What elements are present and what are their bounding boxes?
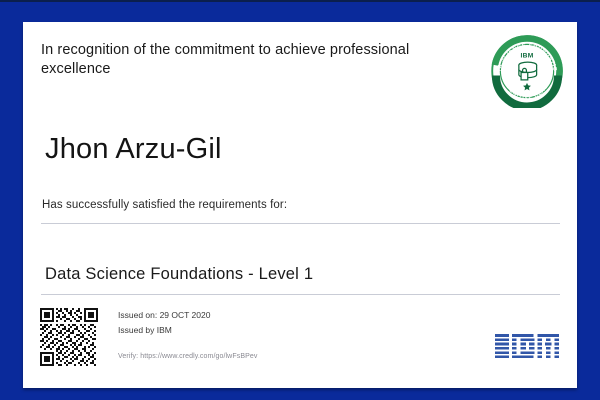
verification-qr-code[interactable] (40, 308, 98, 366)
verify-url-text[interactable]: Verify: https://www.credly.com/go/lwFsBP… (118, 353, 257, 360)
database-cylinder-icon (519, 62, 537, 80)
certificate-border: In recognition of the commitment to achi… (0, 0, 600, 400)
certificate-header-text: In recognition of the commitment to achi… (41, 41, 441, 79)
issued-on-text: Issued on: 29 OCT 2020 (118, 310, 210, 320)
recipient-name: Jhon Arzu-Gil (45, 133, 222, 166)
divider-bottom (41, 294, 560, 295)
badge-ibm-mark: IBM (520, 53, 533, 60)
statement-text: Has successfully satisfied the requireme… (42, 199, 287, 211)
divider-top (41, 223, 560, 224)
issued-by-text: Issued by IBM (118, 325, 172, 335)
credential-title: Data Science Foundations - Level 1 (45, 265, 313, 284)
certificate-card: In recognition of the commitment to achi… (23, 22, 577, 388)
cognitive-class-badge-icon: DATA SCIENCE FOUNDATIONS COGNITIVE CLASS… (490, 34, 564, 108)
ibm-logo (495, 334, 559, 360)
